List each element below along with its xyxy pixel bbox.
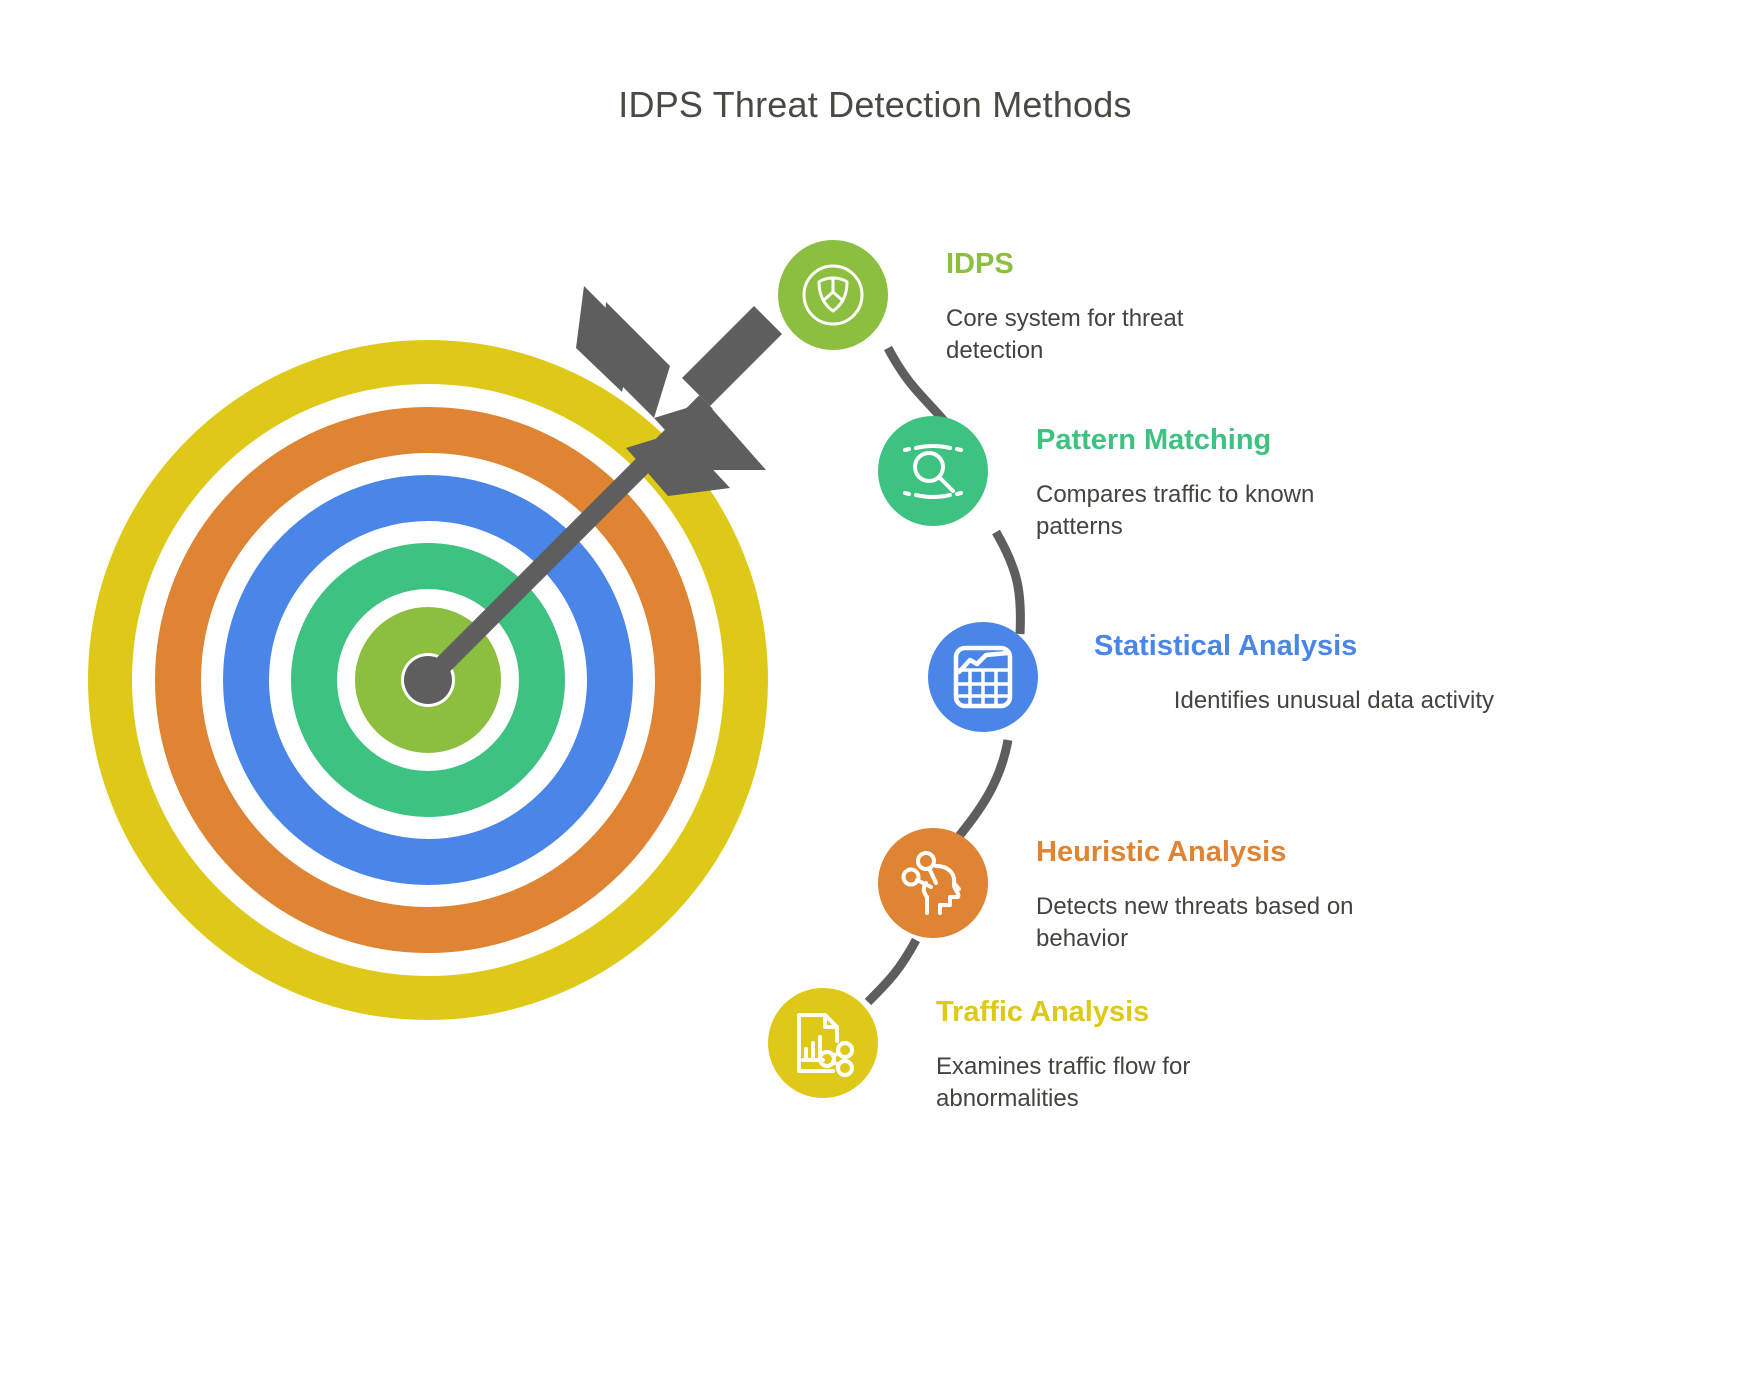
step-item-heuristic-analysis[interactable]: Heuristic Analysis Detects new threats b… bbox=[878, 828, 1416, 955]
step-icon-pattern-matching bbox=[878, 416, 988, 526]
step-desc-statistical-analysis: Identifies unusual data activity bbox=[1094, 685, 1494, 717]
steps-list: IDPS Core system for threat detection bbox=[760, 240, 1640, 1160]
step-icon-statistical-analysis bbox=[928, 622, 1038, 732]
step-icon-heuristic-analysis bbox=[878, 828, 988, 938]
document-network-icon bbox=[785, 1005, 861, 1081]
page-title: IDPS Threat Detection Methods bbox=[0, 84, 1750, 126]
arrow-impact-point bbox=[404, 656, 452, 704]
magnifier-pattern-icon bbox=[895, 433, 971, 509]
step-text-traffic-analysis: Traffic Analysis Examines traffic flow f… bbox=[936, 988, 1266, 1115]
step-desc-pattern-matching: Compares traffic to known patterns bbox=[1036, 479, 1396, 542]
step-text-statistical-analysis: Statistical Analysis Identifies unusual … bbox=[1094, 622, 1494, 717]
step-desc-heuristic-analysis: Detects new threats based on behavior bbox=[1036, 891, 1416, 954]
step-item-traffic-analysis[interactable]: Traffic Analysis Examines traffic flow f… bbox=[768, 988, 1266, 1115]
step-text-idps: IDPS Core system for threat detection bbox=[946, 240, 1276, 367]
step-item-pattern-matching[interactable]: Pattern Matching Compares traffic to kno… bbox=[878, 416, 1396, 543]
step-desc-idps: Core system for threat detection bbox=[946, 303, 1276, 366]
step-title-idps: IDPS bbox=[946, 248, 1276, 281]
chart-grid-icon bbox=[946, 640, 1020, 714]
step-icon-idps bbox=[778, 240, 888, 350]
target-with-arrow-graphic bbox=[78, 330, 778, 1030]
step-title-heuristic-analysis: Heuristic Analysis bbox=[1036, 836, 1416, 869]
step-icon-traffic-analysis bbox=[768, 988, 878, 1098]
step-title-pattern-matching: Pattern Matching bbox=[1036, 424, 1396, 457]
shield-icon bbox=[798, 260, 868, 330]
step-title-statistical-analysis: Statistical Analysis bbox=[1094, 630, 1494, 663]
step-item-idps[interactable]: IDPS Core system for threat detection bbox=[778, 240, 1276, 367]
connector-segment-1-2 bbox=[996, 532, 1020, 634]
step-item-statistical-analysis[interactable]: Statistical Analysis Identifies unusual … bbox=[928, 622, 1494, 732]
connector-segment-2-3 bbox=[956, 740, 1008, 840]
step-text-heuristic-analysis: Heuristic Analysis Detects new threats b… bbox=[1036, 828, 1416, 955]
step-title-traffic-analysis: Traffic Analysis bbox=[936, 996, 1266, 1029]
brain-head-icon bbox=[895, 845, 971, 921]
infographic-canvas: IDPS Threat Detection Methods bbox=[0, 0, 1750, 1392]
step-desc-traffic-analysis: Examines traffic flow for abnormalities bbox=[936, 1051, 1266, 1114]
step-text-pattern-matching: Pattern Matching Compares traffic to kno… bbox=[1036, 416, 1396, 543]
arrow-fletch-notch-left bbox=[576, 286, 634, 392]
